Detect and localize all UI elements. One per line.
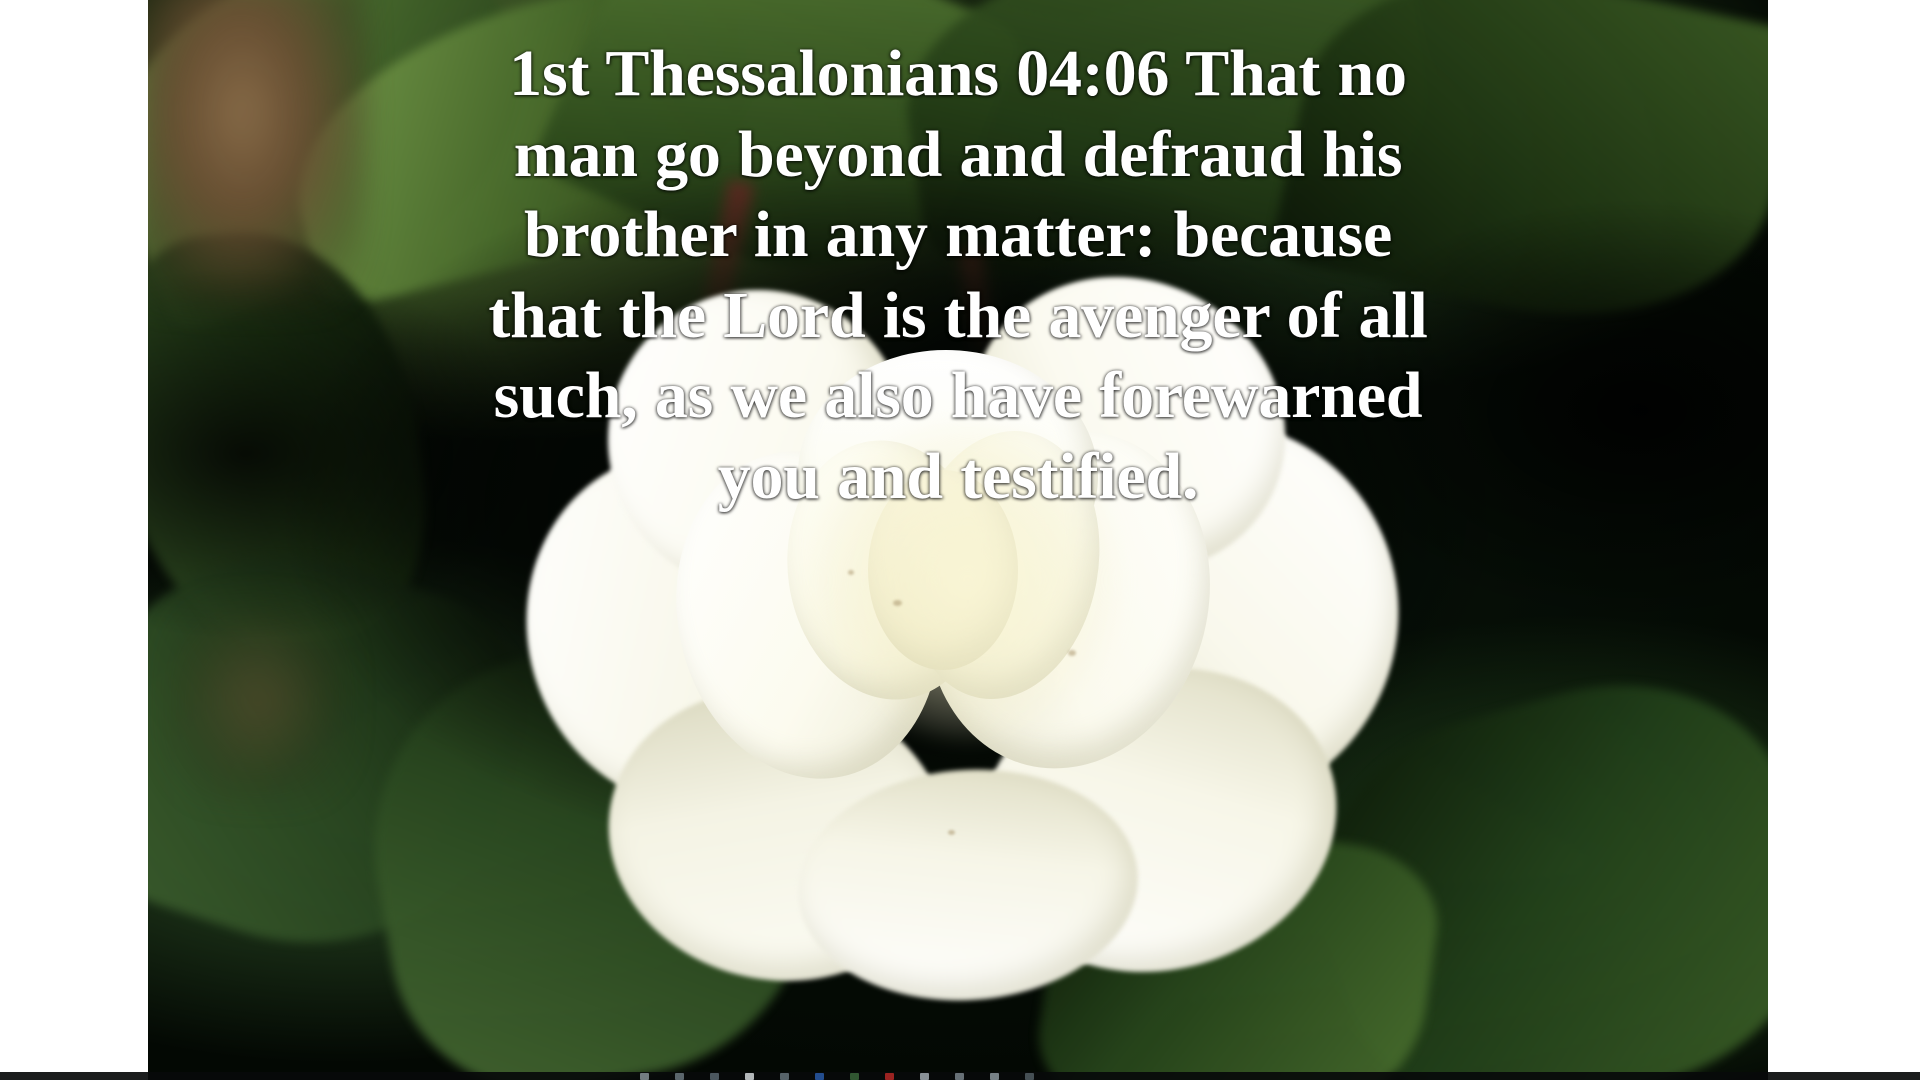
- terminal-icon[interactable]: [850, 1073, 859, 1080]
- grid-icon[interactable]: [710, 1073, 719, 1080]
- verse-line-3: brother in any matter: because: [208, 195, 1708, 276]
- verse-slide: 1st Thessalonians 04:06 That no man go b…: [148, 0, 1768, 1080]
- verse-line-4: that the Lord is the avenger of all: [208, 276, 1708, 357]
- screen: 1st Thessalonians 04:06 That no man go b…: [0, 0, 1920, 1080]
- verse-line-5: such, as we also have forewarned: [208, 356, 1708, 437]
- petal-speck: [848, 570, 854, 575]
- settings-icon[interactable]: [675, 1073, 684, 1080]
- app-icon[interactable]: [990, 1073, 999, 1080]
- media-icon[interactable]: [885, 1073, 894, 1080]
- search-icon[interactable]: [955, 1073, 964, 1080]
- petal-speck: [948, 830, 955, 835]
- petal-speck: [1068, 650, 1076, 656]
- verse-line-6: you and testified.: [208, 437, 1708, 518]
- petal-speck: [893, 600, 902, 606]
- folder-icon[interactable]: [780, 1073, 789, 1080]
- taskbar[interactable]: [0, 1072, 1920, 1080]
- verse-line-1: 1st Thessalonians 04:06 That no: [208, 34, 1708, 115]
- image-icon[interactable]: [920, 1073, 929, 1080]
- taskbar-icon-group: [640, 1072, 1034, 1080]
- verse-line-2: man go beyond and defraud his: [208, 115, 1708, 196]
- window-icon[interactable]: [745, 1073, 754, 1080]
- verse-text: 1st Thessalonians 04:06 That no man go b…: [208, 34, 1708, 517]
- browser-icon[interactable]: [815, 1073, 824, 1080]
- tray-icon[interactable]: [1025, 1073, 1034, 1080]
- list-icon[interactable]: [640, 1073, 649, 1080]
